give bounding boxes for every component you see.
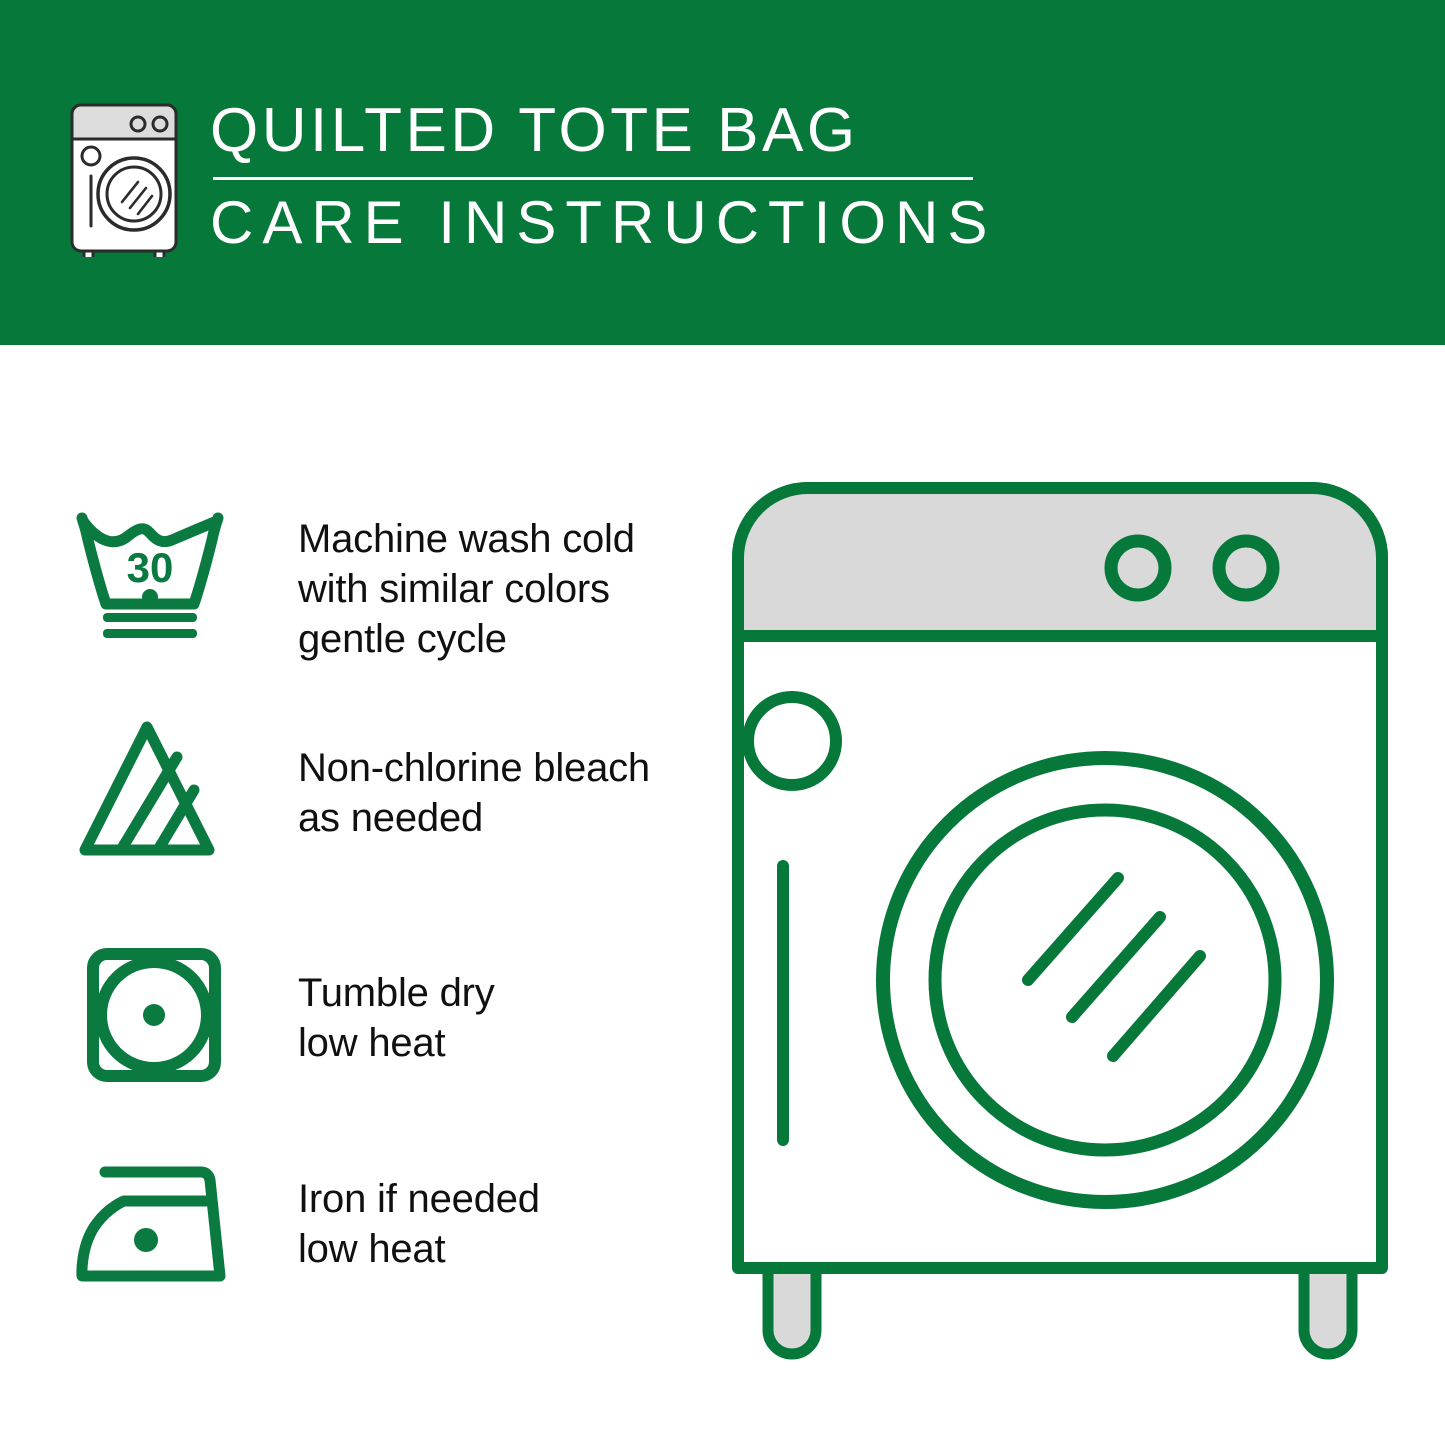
list-item: 30 Machine wash cold with similar colors… — [70, 500, 690, 664]
page-title: QUILTED TOTE BAG — [210, 96, 996, 166]
care-text-line: Machine wash cold — [298, 514, 635, 564]
wash-tub-30-gentle-icon: 30 — [70, 500, 230, 650]
list-item-text: Machine wash cold with similar colors ge… — [298, 514, 635, 664]
tumble-dry-low-heat-icon — [70, 940, 230, 1090]
list-item: Tumble dry low heat — [70, 940, 690, 1090]
control-panel — [738, 488, 1382, 636]
care-text-line: low heat — [298, 1224, 540, 1274]
header-content: QUILTED TOTE BAG CARE INSTRUCTIONS — [66, 96, 996, 257]
iron-low-heat-icon — [70, 1150, 230, 1300]
list-item: Iron if needed low heat — [70, 1150, 690, 1300]
care-text-line: with similar colors — [298, 564, 635, 614]
care-text-line: Tumble dry — [298, 968, 495, 1018]
front-load-washing-machine-illustration — [730, 480, 1390, 1360]
list-item: Non-chlorine bleach as needed — [70, 715, 690, 865]
header-banner: QUILTED TOTE BAG CARE INSTRUCTIONS — [0, 0, 1445, 345]
care-text-line: low heat — [298, 1018, 495, 1068]
care-text-line: Iron if needed — [298, 1174, 540, 1224]
care-text-line: gentle cycle — [298, 614, 635, 664]
leg-left — [768, 1262, 816, 1354]
care-instructions-list: 30 Machine wash cold with similar colors… — [0, 345, 700, 1445]
list-item-text: Tumble dry low heat — [298, 968, 495, 1068]
care-text-line: as needed — [298, 793, 650, 843]
leg-right — [1304, 1262, 1352, 1354]
list-item-text: Non-chlorine bleach as needed — [298, 743, 650, 843]
list-item-text: Iron if needed low heat — [298, 1174, 540, 1274]
triangle-non-chlorine-bleach-icon — [70, 715, 230, 865]
header-titles: QUILTED TOTE BAG CARE INSTRUCTIONS — [210, 96, 996, 256]
washing-machine-icon — [66, 102, 182, 257]
page-subtitle: CARE INSTRUCTIONS — [210, 190, 996, 256]
title-divider — [213, 177, 973, 180]
care-text-line: Non-chlorine bleach — [298, 743, 650, 793]
wash-temperature-label: 30 — [127, 544, 174, 591]
